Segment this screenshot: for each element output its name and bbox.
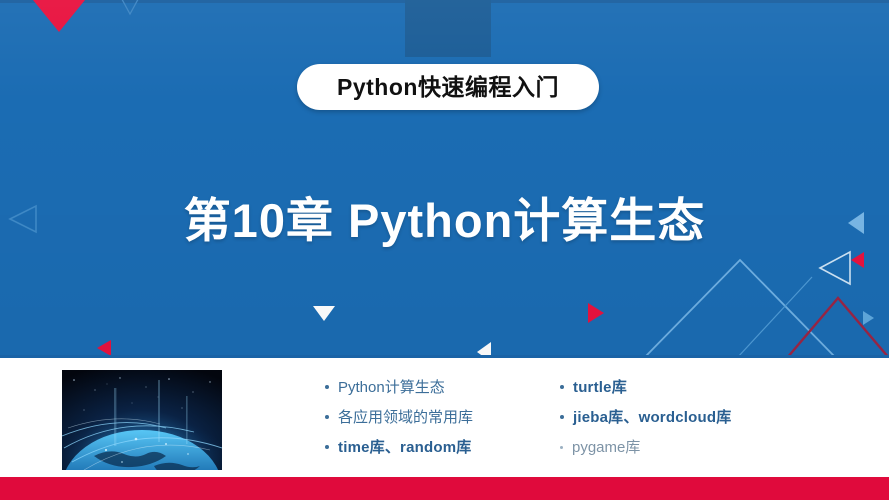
- bullet-dot-icon: [560, 385, 564, 389]
- decor-red-triangle-top-left: [33, 0, 85, 32]
- bullet-dot-icon: [325, 415, 329, 419]
- presentation-slide: Python快速编程入门 第10章 Python计算生态: [0, 0, 889, 500]
- course-title-badge: Python快速编程入门: [297, 64, 599, 110]
- bottom-accent-bar: [0, 477, 889, 500]
- bullet-label: turtle库: [573, 380, 627, 395]
- course-title-text: Python快速编程入门: [337, 76, 559, 99]
- list-item[interactable]: Python计算生态: [325, 372, 545, 402]
- bullet-dot-icon: [560, 415, 564, 419]
- bullet-column-right: turtle库 jieba库、wordcloud库 pygame库: [560, 372, 835, 462]
- decor-large-triangle-lightblue: [644, 260, 836, 358]
- decor-red-triangle-far-right: [851, 252, 864, 268]
- bullet-label: pygame库: [572, 440, 640, 455]
- globe-thumbnail-image: [62, 370, 222, 470]
- decor-outline-triangle-right: [820, 252, 850, 284]
- decor-dark-band: [405, 0, 491, 57]
- chapter-title: 第10章 Python计算生态: [0, 195, 889, 247]
- bullet-label: jieba库、wordcloud库: [573, 410, 731, 425]
- decor-diagonal-line: [737, 277, 812, 358]
- bullet-label: 各应用领域的常用库: [338, 410, 473, 425]
- decor-white-triangle-down: [313, 306, 335, 321]
- bullet-label: time库、random库: [338, 440, 471, 455]
- list-item[interactable]: jieba库、wordcloud库: [560, 402, 835, 432]
- bullet-dot-icon: [325, 445, 329, 449]
- bullet-lists: Python计算生态 各应用领域的常用库 time库、random库 turtl…: [325, 372, 845, 470]
- bullet-dot-icon: [325, 385, 329, 389]
- list-item[interactable]: pygame库: [560, 432, 835, 462]
- decor-red-triangle-right: [588, 303, 604, 323]
- decor-red-triangle-left: [97, 340, 111, 356]
- list-item[interactable]: 各应用领域的常用库: [325, 402, 545, 432]
- bullet-label: Python计算生态: [338, 380, 445, 395]
- list-item[interactable]: turtle库: [560, 372, 835, 402]
- globe-illustration: [62, 370, 222, 470]
- hero-panel: Python快速编程入门 第10章 Python计算生态: [0, 0, 889, 358]
- bullet-column-left: Python计算生态 各应用领域的常用库 time库、random库: [325, 372, 545, 462]
- decor-lightblue-triangle-right: [863, 311, 874, 325]
- decor-large-triangle-maroon: [787, 298, 889, 358]
- list-item[interactable]: time库、random库: [325, 432, 545, 462]
- bullet-dot-icon: [560, 446, 563, 449]
